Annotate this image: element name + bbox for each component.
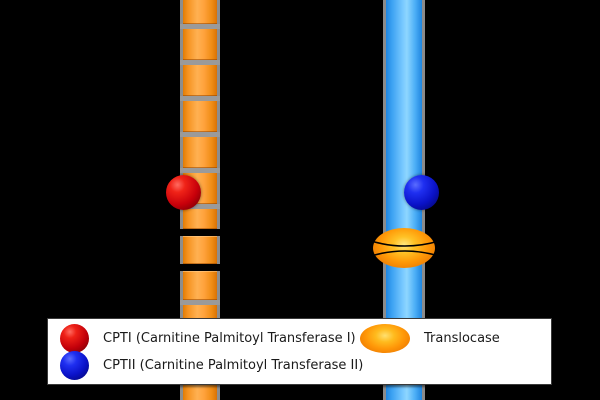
- outer-membrane-segment: [183, 100, 217, 132]
- outer-membrane-segment: [183, 64, 217, 96]
- legend-item-cpt1[interactable]: CPTI (Carnitine Palmitoyl Transferase I): [60, 325, 363, 352]
- outer-membrane-joint: [180, 132, 220, 137]
- outer-membrane-segment: [183, 136, 217, 168]
- cpt1-sphere-marker[interactable]: [166, 175, 201, 210]
- outer-membrane-joint: [180, 60, 220, 65]
- legend-item-translocase-label: Translocase: [424, 331, 500, 346]
- outer-membrane-segment: [183, 28, 217, 60]
- cpt2-sphere-marker[interactable]: [404, 175, 439, 210]
- cpt2-swatch-icon: [60, 351, 89, 380]
- outer-membrane-segment: [183, 0, 217, 24]
- outer-membrane-joint: [180, 96, 220, 101]
- translocase-marker[interactable]: [373, 228, 435, 268]
- outer-membrane-break: [180, 229, 220, 236]
- legend-column-left: CPTI (Carnitine Palmitoyl Transferase I)…: [60, 325, 363, 379]
- outer-membrane-joint: [180, 300, 220, 305]
- legend-item-cpt2[interactable]: CPTII (Carnitine Palmitoyl Transferase I…: [60, 352, 363, 379]
- legend-item-cpt2-label: CPTII (Carnitine Palmitoyl Transferase I…: [103, 358, 363, 373]
- outer-membrane-segment: [183, 271, 217, 300]
- legend-item-translocase[interactable]: Translocase: [360, 325, 500, 352]
- outer-membrane-break: [180, 264, 220, 271]
- translocase-swatch-icon: [360, 324, 410, 353]
- outer-membrane-joint: [180, 24, 220, 29]
- outer-membrane-segment: [183, 236, 217, 264]
- translocase-channel-lines: [369, 228, 441, 268]
- diagram-canvas: CPTI (Carnitine Palmitoyl Transferase I)…: [0, 0, 600, 400]
- legend-item-cpt1-label: CPTI (Carnitine Palmitoyl Transferase I): [103, 331, 356, 346]
- outer-membrane-segment: [183, 208, 217, 229]
- outer-membrane-joint: [180, 168, 220, 173]
- cpt1-swatch-icon: [60, 324, 89, 353]
- legend-column-right: Translocase: [360, 325, 500, 352]
- legend-panel: CPTI (Carnitine Palmitoyl Transferase I)…: [47, 318, 552, 385]
